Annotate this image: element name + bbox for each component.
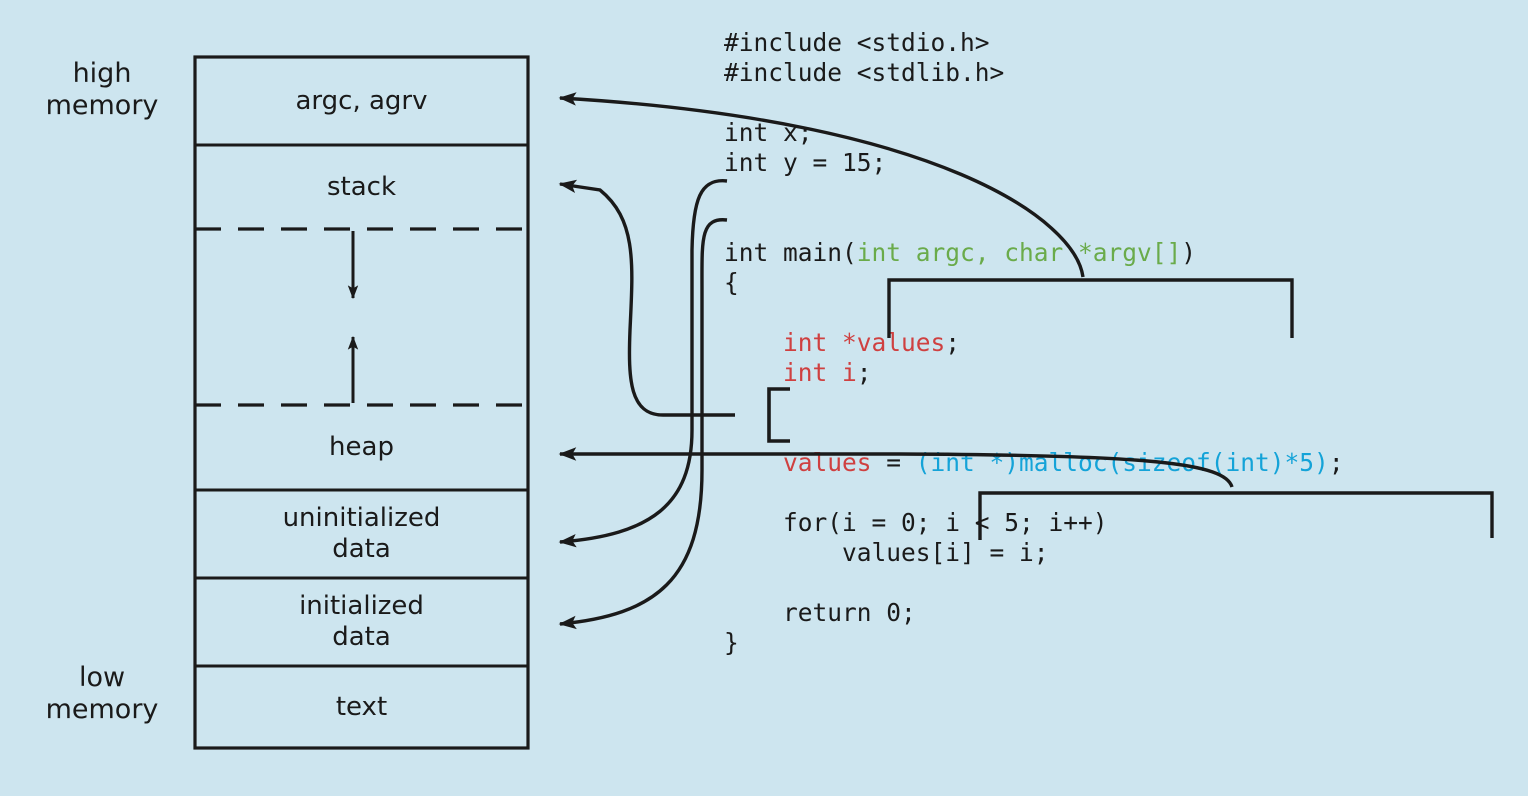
- code-token: int y = 15;: [724, 148, 886, 177]
- code-line: int y = 15;: [724, 148, 1344, 178]
- code-token: return 0;: [724, 598, 916, 627]
- code-line: {: [724, 268, 1344, 298]
- code-token: int main(: [724, 238, 857, 267]
- code-token: }: [724, 628, 739, 657]
- connector-locals-to-stack: [560, 184, 735, 415]
- code-token: values: [783, 448, 872, 477]
- segment-dividers-dashed: [195, 229, 528, 405]
- code-line: int x;: [724, 118, 1344, 148]
- code-token: [724, 328, 783, 357]
- code-line: return 0;: [724, 598, 1344, 628]
- code-token: #include <stdio.h>: [724, 28, 990, 57]
- code-line: [724, 298, 1344, 328]
- memory-layout-figure: high memory low memory argc, agrv stack …: [0, 0, 1528, 796]
- code-line: [724, 418, 1344, 448]
- code-line: int *values;: [724, 328, 1344, 358]
- code-token: #include <stdlib.h>: [724, 58, 1004, 87]
- code-line: for(i = 0; i < 5; i++): [724, 508, 1344, 538]
- code-line: values = (int *)malloc(sizeof(int)*5);: [724, 448, 1344, 478]
- high-memory-label: high memory: [12, 58, 192, 122]
- code-token: values[i] = i;: [724, 538, 1049, 567]
- code-token: {: [724, 268, 739, 297]
- code-token: int x;: [724, 118, 813, 147]
- code-line: [724, 178, 1344, 208]
- code-line: int i;: [724, 358, 1344, 388]
- code-token: [724, 358, 783, 387]
- code-token: int argc, char *argv[]: [857, 238, 1182, 267]
- segment-heap: heap: [195, 405, 528, 490]
- code-token: =: [872, 448, 916, 477]
- segment-argc-agrv: argc, agrv: [195, 57, 528, 145]
- code-token: ;: [1329, 448, 1344, 477]
- code-line: [724, 388, 1344, 418]
- segment-text: text: [195, 666, 528, 748]
- code-token: ;: [945, 328, 960, 357]
- segment-stack: stack: [195, 145, 528, 229]
- code-token: ): [1181, 238, 1196, 267]
- connector-inty-to-initialized: [560, 220, 727, 624]
- low-memory-label: low memory: [12, 662, 192, 726]
- code-line: #include <stdio.h>: [724, 28, 1344, 58]
- code-listing: #include <stdio.h>#include <stdlib.h> in…: [724, 28, 1344, 658]
- code-line: }: [724, 628, 1344, 658]
- code-token: (int *)malloc(sizeof(int)*5): [916, 448, 1329, 477]
- code-line: [724, 568, 1344, 598]
- code-token: int i: [783, 358, 857, 387]
- code-line: #include <stdlib.h>: [724, 58, 1344, 88]
- code-line: values[i] = i;: [724, 538, 1344, 568]
- code-line: int main(int argc, char *argv[]): [724, 238, 1344, 268]
- code-token: [724, 448, 783, 477]
- code-token: int *values: [783, 328, 945, 357]
- code-token: for(i = 0; i < 5; i++): [724, 508, 1108, 537]
- segment-uninitialized-data: uninitialized data: [195, 490, 528, 578]
- code-token: ;: [857, 358, 872, 387]
- code-line: [724, 88, 1344, 118]
- code-line: [724, 208, 1344, 238]
- segment-initialized-data: initialized data: [195, 578, 528, 666]
- connector-intx-to-uninitialized: [560, 181, 727, 542]
- code-line: [724, 478, 1344, 508]
